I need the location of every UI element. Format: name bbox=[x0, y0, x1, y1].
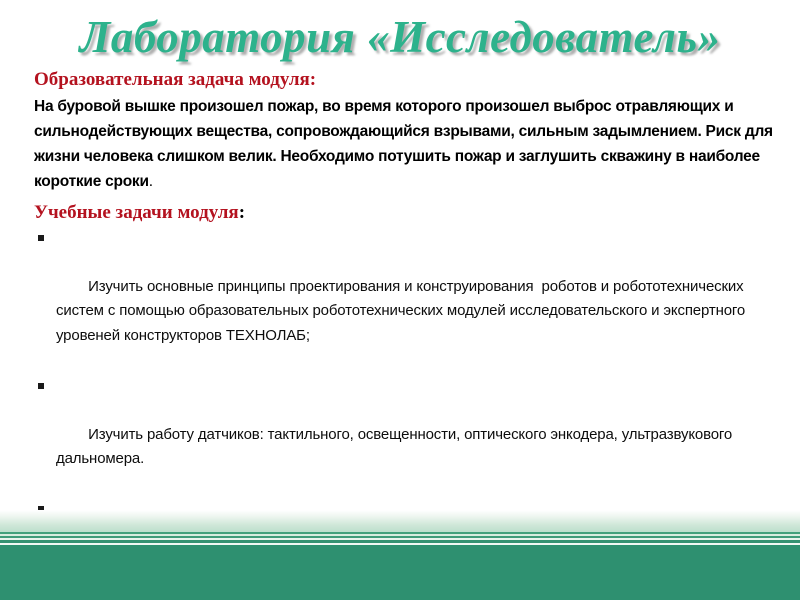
footer-solid-block bbox=[0, 545, 800, 600]
educational-task-heading-text: Образовательная задача модуля: bbox=[34, 69, 316, 90]
slide-title: Лаборатория «Исследователь» bbox=[79, 15, 720, 60]
square-bullet-icon bbox=[38, 383, 44, 389]
educational-task-paragraph-tail: . bbox=[149, 173, 153, 190]
slide-title-area: Лаборатория «Исследователь» bbox=[0, 6, 800, 68]
list-item: Изучить основные принципы проектирования… bbox=[34, 226, 786, 373]
footer-gradient-fade bbox=[0, 510, 800, 532]
educational-task-heading: Образовательная задача модуля: bbox=[34, 68, 786, 92]
presentation-slide: Лаборатория «Исследователь» Образователь… bbox=[0, 0, 800, 600]
list-item-label: Изучить основные принципы проектирования… bbox=[56, 278, 749, 344]
study-tasks-heading-text: Учебные задачи модуля bbox=[34, 202, 239, 223]
square-bullet-icon bbox=[38, 235, 44, 241]
study-tasks-heading: Учебные задачи модуля: bbox=[34, 201, 786, 225]
educational-task-paragraph: На буровой вышке произошел пожар, во вре… bbox=[34, 94, 782, 194]
study-tasks-heading-tail: : bbox=[239, 202, 245, 223]
footer-decorative-band bbox=[0, 510, 800, 600]
list-item: Изучить работу датчиков: тактильного, ос… bbox=[34, 374, 786, 497]
list-item-label: Изучить работу датчиков: тактильного, ос… bbox=[56, 426, 736, 468]
educational-task-paragraph-text: На буровой вышке произошел пожар, во вре… bbox=[34, 98, 773, 190]
